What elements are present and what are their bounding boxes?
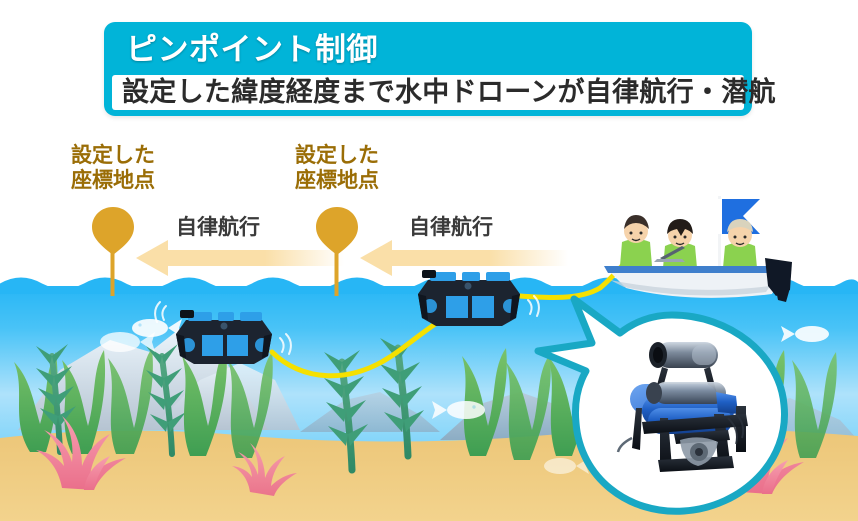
boat-stripe <box>604 266 788 273</box>
rov-illustration <box>596 322 764 490</box>
waypoint-label-2-line2: 座標地点 <box>267 168 407 193</box>
banner-subtitle: 設定した緯度経度まで水中ドローンが自律航行・潜航 <box>122 75 776 110</box>
banner-title: ピンポイント制御 <box>126 28 378 72</box>
waypoint-label-2: 設定した 座標地点 <box>267 143 407 193</box>
banner-body: 設定した緯度経度まで水中ドローンが自律航行・潜航 <box>112 75 744 110</box>
arrow-label-2: 自律航行 <box>409 211 493 241</box>
laptop-icon <box>654 246 685 262</box>
flag <box>721 199 760 234</box>
flag-pole <box>718 196 721 266</box>
waypoint-label-1-line2: 座標地点 <box>43 168 183 193</box>
header-banner: ピンポイント制御 設定した緯度経度まで水中ドローンが自律航行・潜航 <box>104 22 752 116</box>
rov-product-photo <box>596 322 764 490</box>
arrow-label-1: 自律航行 <box>176 211 260 241</box>
autonomous-nav-arrow-2 <box>360 240 568 276</box>
waypoint-label-2-line1: 設定した <box>267 143 407 168</box>
waypoint-label-1: 設定した 座標地点 <box>43 143 183 193</box>
crew-member-1 <box>620 215 652 266</box>
crew-member-3 <box>723 219 757 268</box>
crew-member-2 <box>654 219 697 268</box>
infographic-scene: 設定した 座標地点 設定した 座標地点 自律航行 自律航行 <box>0 0 858 521</box>
waypoint-label-1-line1: 設定した <box>43 143 183 168</box>
water-surface-waves <box>0 276 858 294</box>
autonomous-nav-arrow-1 <box>136 240 344 276</box>
rov-top-camera <box>649 342 718 368</box>
